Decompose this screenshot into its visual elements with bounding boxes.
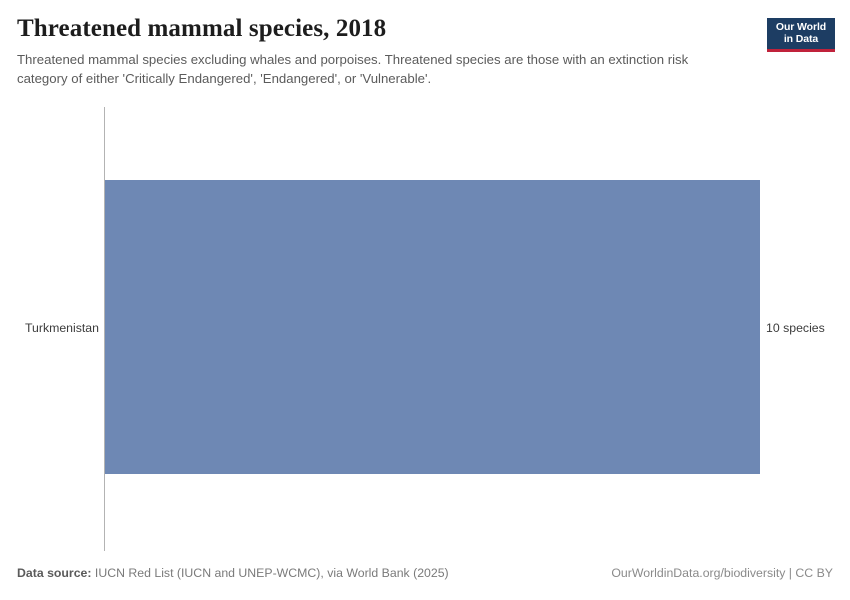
data-source-line: Data source: IUCN Red List (IUCN and UNE…: [17, 565, 449, 581]
page-title: Threatened mammal species, 2018: [17, 14, 386, 44]
bar-chart-plot-area: Turkmenistan 10 species: [0, 0, 850, 600]
our-world-in-data-logo[interactable]: Our World in Data: [767, 18, 835, 52]
data-source-text: IUCN Red List (IUCN and UNEP-WCMC), via …: [92, 566, 449, 580]
bar-turkmenistan[interactable]: [105, 180, 760, 474]
data-source-label: Data source:: [17, 566, 92, 580]
chart-footer: Data source: IUCN Red List (IUCN and UNE…: [0, 565, 850, 600]
logo-line-two: in Data: [784, 34, 818, 46]
chart-subtitle: Threatened mammal species excluding whal…: [17, 50, 739, 88]
logo-line-one: Our World: [776, 22, 826, 34]
attribution-link[interactable]: OurWorldinData.org/biodiversity | CC BY: [611, 565, 833, 581]
y-axis-line: [104, 107, 105, 551]
bar-category-label: Turkmenistan: [0, 320, 99, 336]
bar-value-label: 10 species: [766, 320, 825, 336]
